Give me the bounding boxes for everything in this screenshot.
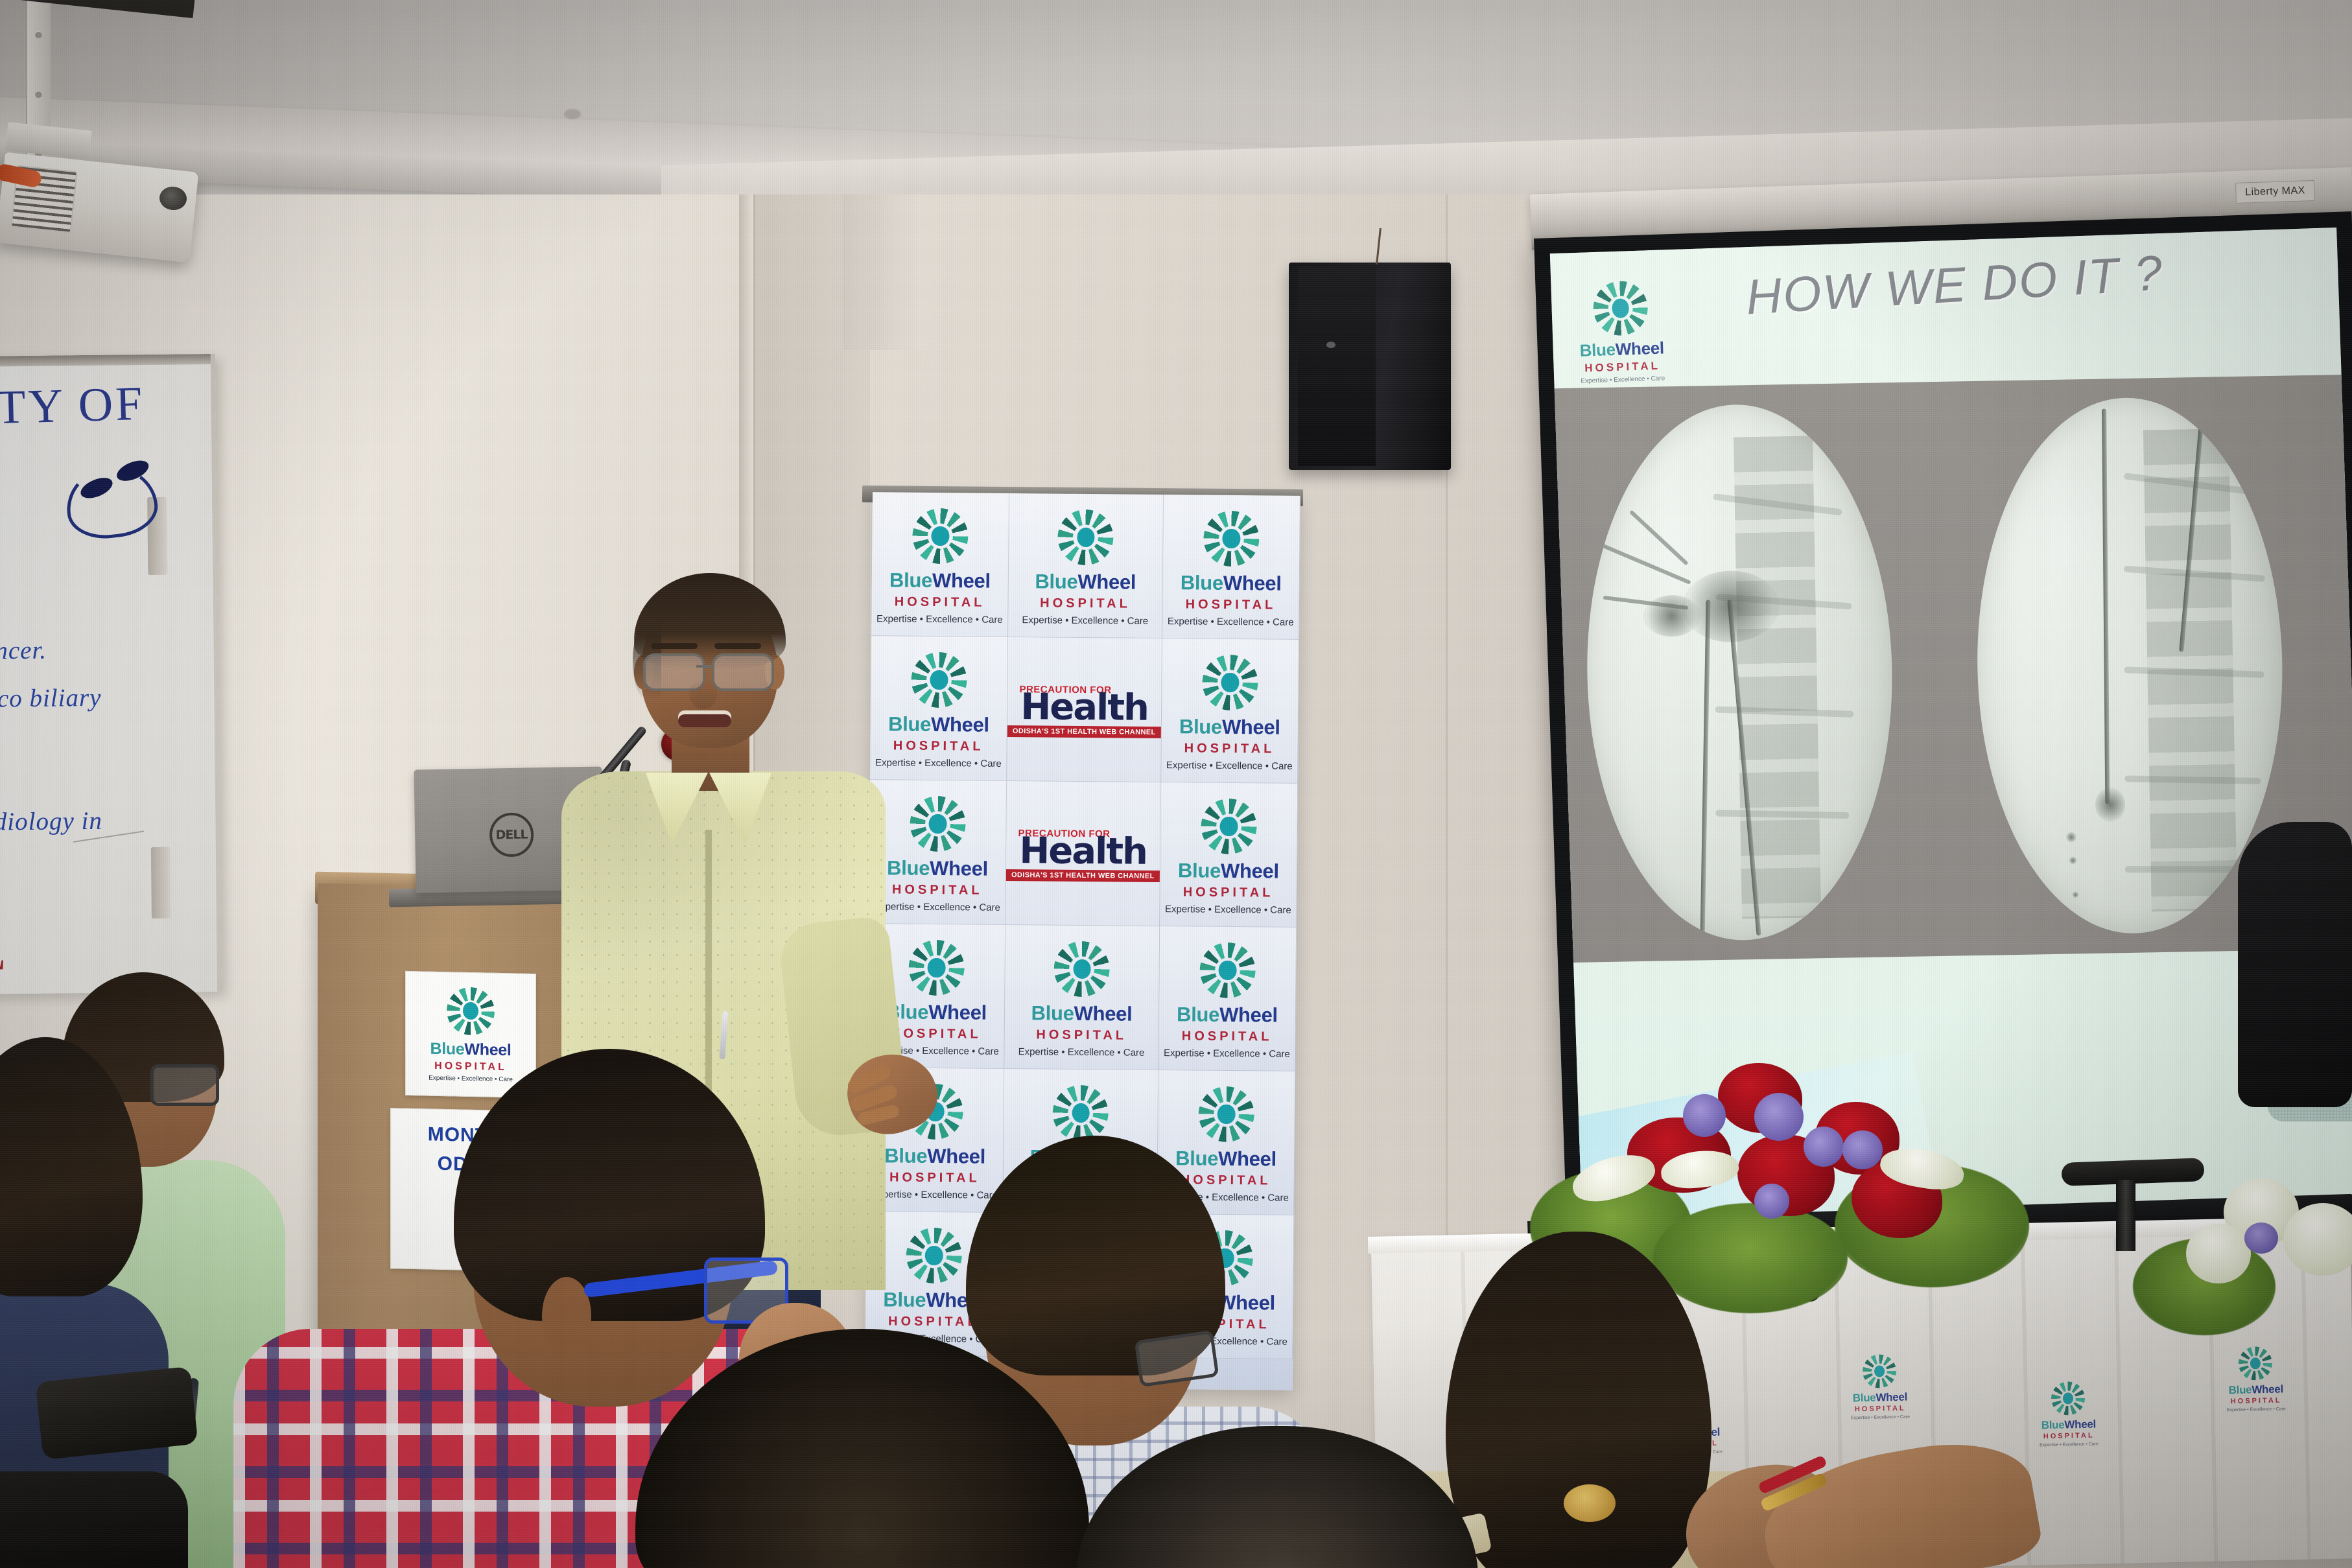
blue-wheel-logo-mark (1054, 941, 1111, 998)
blue-wheel-logo-mark (910, 796, 966, 852)
banner-logo-sub: HOSPITAL (891, 1027, 982, 1040)
blue-wheel-logo-mark (1058, 509, 1114, 566)
audience-member-right-hand (1763, 1413, 2152, 1568)
blue-wheel-logo-mark (911, 652, 967, 708)
purple-flower (1683, 1094, 1726, 1137)
fluoroscopy-image-right (1973, 395, 2287, 936)
xray-rib (2124, 775, 2261, 784)
banner-logo-name: BlueWheel (1178, 860, 1279, 881)
chair-support-post (2116, 1180, 2135, 1251)
banner-logo-name: BlueWheel (888, 714, 989, 734)
slide-logo-sub: HOSPITAL (1584, 360, 1660, 374)
hair (635, 1329, 1089, 1568)
office-chair-back[interactable] (2238, 822, 2352, 1107)
xray-marker-dot (2072, 891, 2078, 898)
ceiling-light-fixture (564, 109, 581, 119)
purple-flower (1754, 1093, 1804, 1141)
banner-logo-sub: HOSPITAL (1183, 885, 1274, 899)
banner-logo-name: BlueWheel (886, 1001, 987, 1022)
banner-tile-health-sponsor: PRECAUTION FORHealthODISHA'S 1ST HEALTH … (1005, 781, 1161, 926)
purple-flower (1842, 1130, 1883, 1169)
banner-tile-hospital-logo: BlueWheelHOSPITALExpertise • Excellence … (1004, 925, 1160, 1070)
banner-tile-hospital-logo: BlueWheelHOSPITALExpertise • Excellence … (871, 492, 1009, 637)
banner-logo-tagline: Expertise • Excellence • Care (876, 614, 1003, 625)
wall-speaker (1289, 263, 1451, 470)
hair (0, 1037, 143, 1296)
banner-logo-sub: HOSPITAL (895, 595, 985, 609)
xray-catheter (2102, 408, 2110, 804)
banner-tile-hospital-logo: BlueWheelHOSPITALExpertise • Excellence … (1160, 782, 1298, 928)
banner-logo-name: BlueWheel (1177, 1004, 1278, 1025)
banner-tile-hospital-logo: BlueWheelHOSPITALExpertise • Excellence … (1158, 926, 1297, 1071)
rail-screw (35, 31, 42, 38)
xray-duct-branch (1600, 543, 1691, 585)
banner-logo-name: BlueWheel (1179, 716, 1280, 737)
flipchart-note-1: GI cancer. (0, 636, 47, 666)
conference-photo-scene: OCIETY OF ME GI cancer. creatico biliary… (0, 0, 2352, 1568)
seat-back-silhouette (35, 1366, 198, 1460)
xray-stent-marker (2095, 787, 2126, 823)
skirt-logo-sub: HOSPITAL (2231, 1398, 2282, 1406)
blue-wheel-logo-mark (1203, 511, 1260, 567)
flipchart-board: OCIETY OF ME GI cancer. creatico biliary… (0, 354, 222, 994)
blue-wheel-logo-mark (908, 940, 965, 996)
health-subtext: ODISHA'S 1ST HEALTH WEB CHANNEL (1007, 725, 1161, 738)
speaker-front-face (1298, 266, 1376, 466)
banner-logo-tagline: Expertise • Excellence • Care (1166, 760, 1293, 771)
banner-tile-hospital-logo: BlueWheelHOSPITALExpertise • Excellence … (1161, 638, 1299, 784)
presenter-glasses-right-lens (712, 653, 774, 691)
banner-tile-hospital-logo: BlueWheelHOSPITALExpertise • Excellence … (870, 636, 1008, 781)
banner-logo-sub: HOSPITAL (1184, 742, 1275, 755)
banner-logo-tagline: Expertise • Excellence • Care (1168, 616, 1294, 627)
blue-wheel-logo-mark (1199, 942, 1256, 999)
purple-flower (2244, 1223, 2278, 1254)
flipchart-title-line-1: OCIETY OF (0, 374, 173, 441)
fluoroscopy-image-left (1582, 402, 1896, 942)
xray-duct-branch (1629, 509, 1689, 565)
banner-logo-tagline: Expertise • Excellence • Care (1018, 1047, 1145, 1058)
banner-logo-sub: HOSPITAL (1036, 1028, 1127, 1042)
health-wordmark: Health (1019, 834, 1147, 869)
xray-rib (2125, 866, 2255, 872)
presenter-nose (690, 681, 717, 709)
skirt-logo-name: BlueWheel (2229, 1383, 2284, 1396)
blue-wheel-logo-mark (2051, 1381, 2085, 1416)
banner-logo-sub: HOSPITAL (1182, 1029, 1273, 1043)
banner-tile-hospital-logo: BlueWheelHOSPITALExpertise • Excellence … (1162, 495, 1300, 640)
forearm (1754, 1429, 2045, 1568)
banner-tile-hospital-logo: BlueWheelHOSPITALExpertise • Excellence … (1008, 493, 1164, 638)
glasses (1135, 1330, 1219, 1387)
banner-tile-health-sponsor: PRECAUTION FORHealthODISHA'S 1ST HEALTH … (1007, 637, 1162, 782)
flipchart-note-2: creatico biliary (0, 683, 102, 714)
banner-logo-tagline: Expertise • Excellence • Care (1022, 615, 1148, 626)
presenter-eyebrow-left (651, 643, 698, 649)
seat-back-silhouette (0, 1471, 188, 1568)
audience-member-foreground-right (1076, 1426, 1478, 1568)
hair (1076, 1426, 1478, 1568)
slide-xray-panel (1553, 374, 2352, 963)
skirt-logo-tagline: Expertise • Excellence • Care (2227, 1407, 2286, 1412)
flipchart-top-bar (0, 354, 211, 367)
xray-marker-dot (2066, 832, 2076, 842)
health-wordmark: Health (1020, 690, 1148, 725)
banner-logo-name: BlueWheel (1181, 572, 1282, 593)
dell-logo-icon: DELL (489, 812, 534, 857)
banner-logo-name: BlueWheel (887, 858, 988, 878)
banner-logo-tagline: Expertise • Excellence • Care (1165, 904, 1291, 915)
speaker-driver-dot (1326, 342, 1335, 348)
hair-clip (1564, 1484, 1616, 1522)
health-subtext: ODISHA'S 1ST HEALTH WEB CHANNEL (1006, 869, 1160, 882)
slide-logo-tagline: Expertise • Excellence • Care (1581, 375, 1665, 384)
slide-hospital-logo: BlueWheel HOSPITAL Expertise • Excellenc… (1575, 279, 1667, 400)
presenter-mouth (678, 710, 731, 727)
banner-tile-hospital-logo: BlueWheelHOSPITALExpertise • Excellence … (869, 780, 1007, 925)
rail-screw (35, 91, 42, 98)
presenter-eyebrow-right (714, 643, 761, 649)
white-chrysanthemum (2283, 1203, 2352, 1276)
banner-logo-sub: HOSPITAL (893, 739, 984, 753)
banner-logo-tagline: Expertise • Excellence • Care (1164, 1048, 1290, 1059)
banner-logo-tagline: Expertise • Excellence • Care (875, 758, 1002, 769)
banner-logo-name: BlueWheel (1035, 571, 1136, 592)
xray-catheter (1700, 600, 1710, 941)
blue-wheel-logo-mark (1592, 280, 1649, 336)
flipchart-note-3: al Radiology in (0, 806, 102, 837)
banner-logo-sub: HOSPITAL (1040, 596, 1131, 610)
slide-logo-name: BlueWheel (1579, 339, 1664, 358)
screen-brand-label: Liberty MAX (2235, 180, 2315, 204)
blue-wheel-logo-mark (912, 508, 969, 565)
banner-logo-sub: HOSPITAL (892, 883, 983, 896)
purple-flower (1804, 1127, 1844, 1167)
floral-arrangement-right (2146, 1160, 2352, 1374)
audience-member-foreground-center (635, 1329, 1089, 1568)
presenter-glasses-bridge (696, 665, 713, 668)
wall-duct (843, 194, 921, 350)
banner-logo-tagline: Expertise • Excellence • Care (874, 902, 1000, 913)
blue-wheel-logo-mark (1201, 799, 1257, 855)
xray-marker-dot (2069, 856, 2076, 864)
xray-rib (1715, 810, 1849, 819)
glasses (150, 1064, 219, 1106)
banner-logo-sub: HOSPITAL (1186, 598, 1276, 611)
slide-title: HOW WE DO IT ? (1745, 244, 2165, 325)
banner-logo-name: BlueWheel (1031, 1003, 1132, 1024)
blue-wheel-logo-mark (1202, 655, 1258, 711)
banner-logo-name: BlueWheel (889, 570, 991, 591)
flipchart-clip (151, 847, 171, 919)
white-chrysanthemum (2186, 1224, 2251, 1283)
